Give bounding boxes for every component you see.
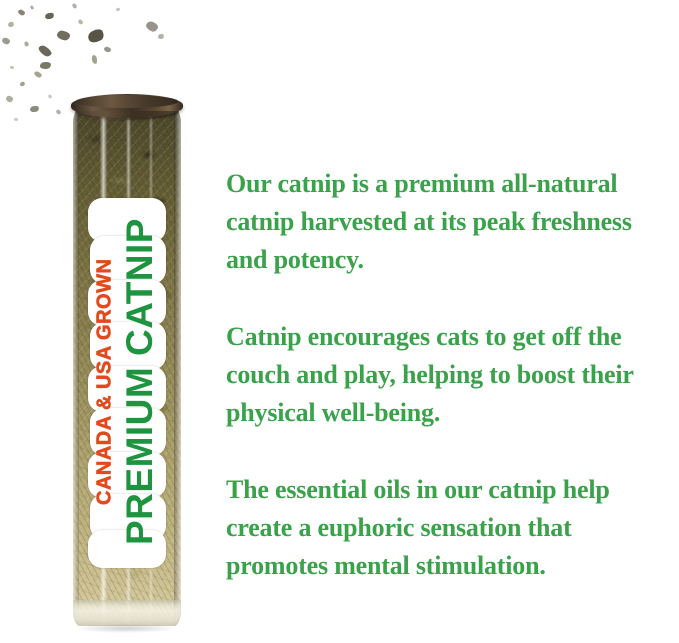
copy-paragraph-3: The essential oils in our catnip help cr… [226, 471, 678, 585]
catnip-flake [116, 7, 121, 11]
tube-drop-shadow [76, 624, 176, 633]
catnip-flake [71, 3, 77, 9]
product-label: CANADA & USA GROWN PREMIUM CATNIP [88, 196, 168, 568]
catnip-flake [30, 5, 35, 10]
label-product-name: PREMIUM CATNIP [116, 196, 164, 568]
catnip-flake [17, 9, 25, 16]
catnip-flake [14, 118, 18, 121]
catnip-flake [86, 27, 106, 45]
catnip-flake [40, 61, 52, 69]
copy-paragraph-1: Our catnip is a premium all-natural catn… [226, 165, 678, 279]
label-origin-text: CANADA & USA GROWN [92, 196, 118, 568]
catnip-flake [77, 19, 83, 25]
catnip-flake [48, 94, 53, 99]
catnip-flake [1, 37, 11, 45]
copy-paragraph-2: Catnip encourages cats to get off the co… [226, 318, 678, 432]
catnip-flake [5, 95, 14, 103]
catnip-flake [19, 81, 25, 87]
catnip-flake [37, 44, 53, 58]
catnip-flake [145, 20, 159, 33]
catnip-flake [55, 109, 61, 115]
catnip-flake [157, 33, 164, 40]
catnip-flake [24, 41, 30, 47]
tube-cap-top [76, 95, 178, 108]
marketing-copy: Our catnip is a premium all-natural catn… [226, 165, 678, 585]
catnip-flake [44, 12, 54, 20]
catnip-flake [33, 70, 42, 78]
catnip-flake [7, 21, 15, 29]
catnip-flake [10, 66, 14, 70]
tube-base [73, 600, 181, 626]
product-marketing-image: CANADA & USA GROWN PREMIUM CATNIP Our ca… [0, 0, 679, 643]
catnip-flake [29, 105, 39, 113]
catnip-flake [56, 30, 71, 42]
catnip-flake [103, 46, 111, 53]
catnip-flake [91, 55, 97, 65]
